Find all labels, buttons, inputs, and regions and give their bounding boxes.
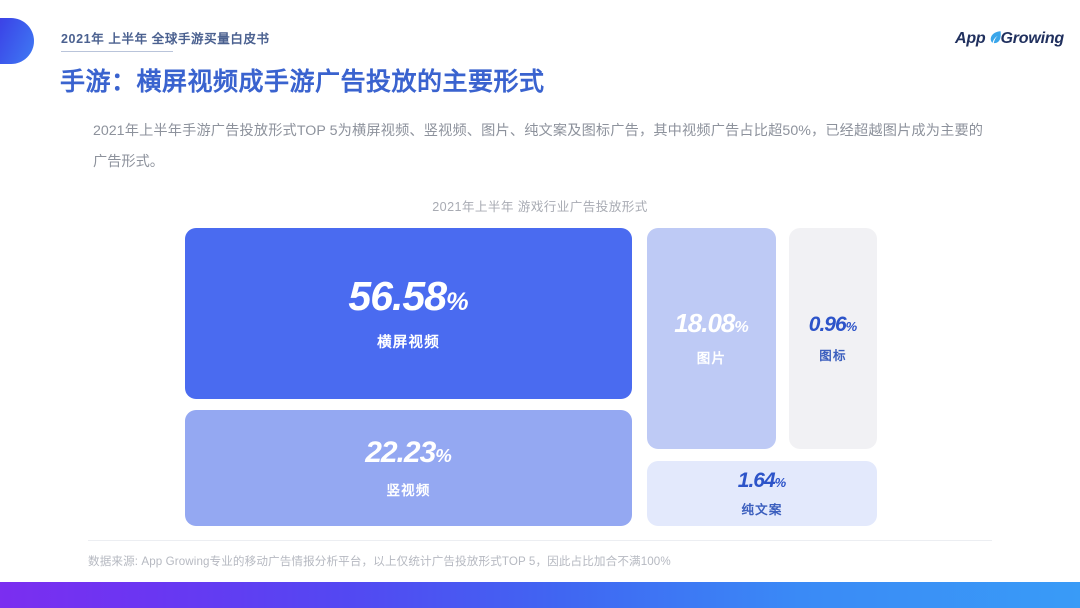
chart-cell-landscape-video-label: 横屏视频 bbox=[377, 331, 440, 352]
chart-cell-portrait-video-label: 竖视频 bbox=[386, 479, 430, 499]
chart-cell-landscape-video[interactable]: 56.58% 横屏视频 bbox=[185, 228, 632, 399]
chart-cell-icon-value: 0.96% bbox=[809, 314, 857, 335]
slide-canvas: 2021年 上半年 全球手游买量白皮书 手游：横屏视频成手游广告投放的主要形式 … bbox=[0, 0, 1080, 608]
logo-letter-g: G bbox=[1001, 30, 1013, 47]
chart-cell-image[interactable]: 18.08% 图片 bbox=[647, 228, 776, 449]
source-footnote: 数据来源: App Growing专业的移动广告情报分析平台，以上仅统计广告投放… bbox=[88, 553, 671, 569]
kicker-divider bbox=[61, 51, 173, 52]
leaf-icon bbox=[988, 32, 1002, 47]
logo-word-app: App bbox=[955, 30, 986, 48]
chart-cell-image-value: 18.08% bbox=[674, 310, 748, 336]
logo-word-rowing: rowing bbox=[1013, 30, 1064, 47]
chart-cell-image-label: 图片 bbox=[697, 347, 726, 367]
app-growing-logo: App Growing bbox=[955, 30, 1064, 48]
chart-cell-portrait-video-value: 22.23% bbox=[365, 438, 452, 468]
chart-cell-text-only-value: 1.64% bbox=[738, 470, 786, 491]
footnote-divider bbox=[88, 540, 992, 541]
chart-cell-portrait-video[interactable]: 22.23% 竖视频 bbox=[185, 410, 632, 526]
ad-format-treemap-chart: 56.58% 横屏视频 22.23% 竖视频 18.08% 图片 0.96% 图… bbox=[185, 228, 877, 526]
chart-caption: 2021年上半年 游戏行业广告投放形式 bbox=[0, 196, 1080, 215]
chart-cell-icon-label: 图标 bbox=[819, 345, 846, 364]
logo-word-growing: Growing bbox=[1001, 30, 1065, 48]
decorative-corner-blob bbox=[0, 18, 34, 64]
page-title: 手游：横屏视频成手游广告投放的主要形式 bbox=[60, 62, 545, 98]
summary-paragraph: 2021年上半年手游广告投放形式TOP 5为横屏视频、竖视频、图片、纯文案及图标… bbox=[93, 116, 983, 178]
chart-cell-landscape-video-value: 56.58% bbox=[348, 276, 468, 317]
chart-cell-text-only[interactable]: 1.64% 纯文案 bbox=[647, 461, 877, 526]
report-kicker: 2021年 上半年 全球手游买量白皮书 bbox=[61, 28, 270, 47]
bottom-gradient-bar bbox=[0, 582, 1080, 608]
chart-cell-text-only-label: 纯文案 bbox=[741, 499, 782, 518]
chart-cell-icon[interactable]: 0.96% 图标 bbox=[789, 228, 877, 449]
